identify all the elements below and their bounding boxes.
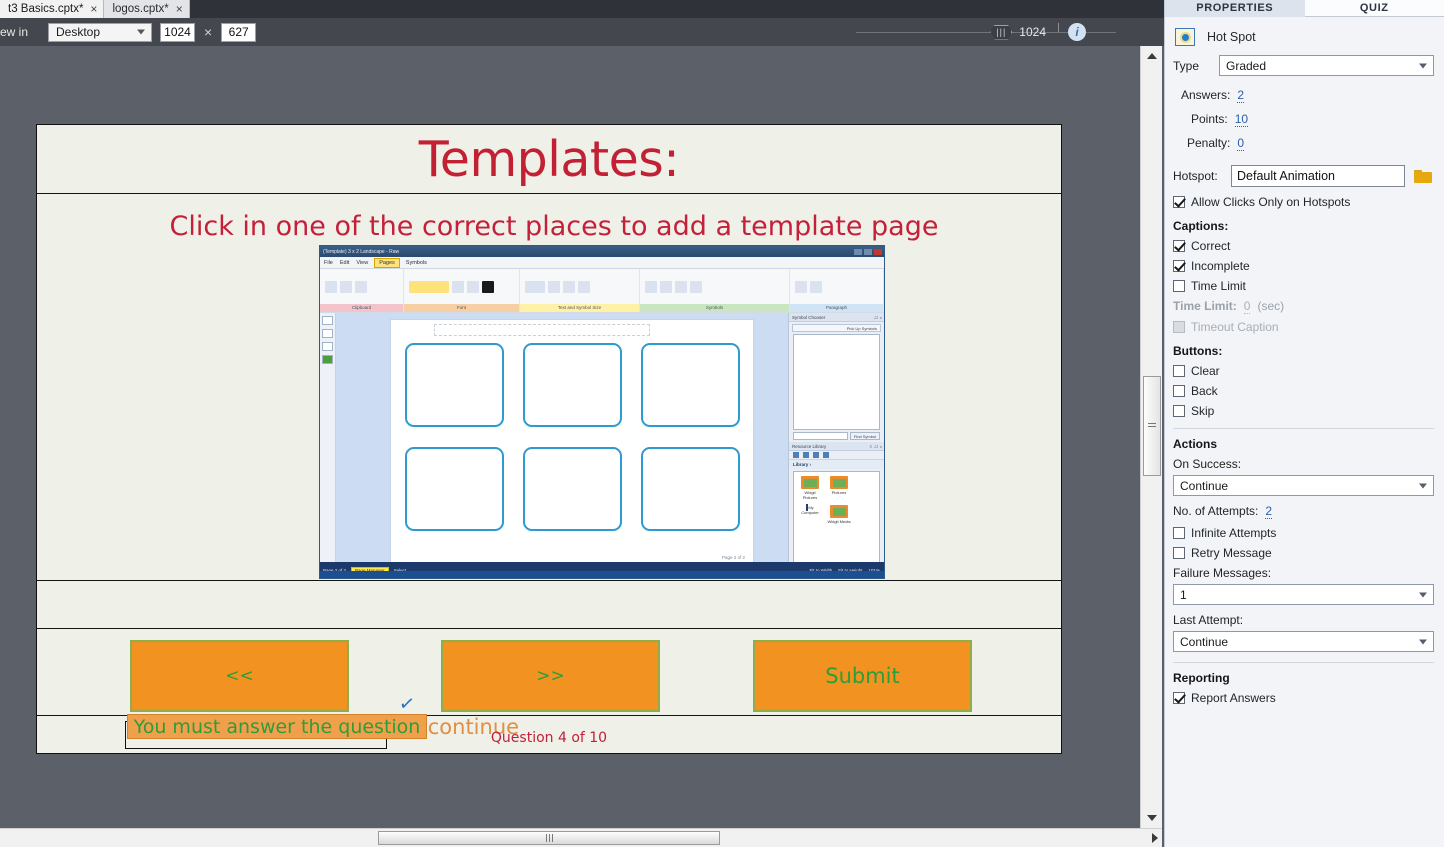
triangle-down-icon <box>1147 815 1157 821</box>
ribbon-group-clipboard: Clipboard <box>320 269 404 312</box>
close-icon: × <box>880 444 882 449</box>
colour-icon <box>482 281 494 293</box>
button-back-checkbox[interactable]: Back <box>1173 384 1434 398</box>
caption-incomplete-label: Incomplete <box>1191 259 1250 273</box>
page-header-placeholder <box>434 324 650 336</box>
library-item-label: Widgit Pictures <box>803 490 817 500</box>
shot-taskbar <box>320 571 884 578</box>
symbol-chooser-header: Symbol Chooser ☐ × <box>789 313 884 322</box>
page-footer-text: Page 2 of 2 <box>722 555 745 560</box>
find-symbol-row: Find Symbol <box>793 432 880 440</box>
slide-title: Templates: <box>37 131 1061 188</box>
hotspot-label: Hotspot: <box>1173 169 1231 183</box>
paste-icon <box>355 281 367 293</box>
chevron-down-icon <box>137 30 145 35</box>
next-button[interactable]: >> <box>441 640 660 712</box>
checkbox-box <box>1173 365 1185 377</box>
menu-icon: ≡ <box>870 444 872 449</box>
previous-button[interactable]: << <box>130 640 349 712</box>
time-limit-value: 0 <box>1244 299 1251 314</box>
app-window: t3 Basics.cptx* × logos.cptx* × ew in De… <box>0 0 1444 847</box>
checkbox-box <box>1173 527 1185 539</box>
caption-correct-label: Correct <box>1191 239 1230 253</box>
line-tool-icon <box>322 342 333 351</box>
width-value: 1024 <box>164 25 191 39</box>
close-icon: × <box>880 315 882 320</box>
panel-title: Resource Library <box>792 444 826 449</box>
library-item: Widgit Media <box>827 505 851 524</box>
library-item: My Computer <box>798 505 822 524</box>
ribbon-group-textsize: Text and Symbol Size <box>520 269 640 312</box>
symbol-extra-icon <box>690 281 702 293</box>
ribbon-group-paragraph: Paragraph <box>790 269 884 312</box>
timeout-caption-label: Timeout Caption <box>1191 320 1279 334</box>
on-success-label: On Success: <box>1173 457 1434 471</box>
panel-buttons: ☐ × <box>874 315 882 320</box>
section-divider <box>1173 428 1434 429</box>
report-answers-label: Report Answers <box>1191 691 1276 705</box>
maximize-icon <box>864 249 872 255</box>
up-icon <box>803 452 809 458</box>
checkbox-box <box>1173 196 1185 208</box>
object-header: Hot Spot <box>1175 28 1434 46</box>
tab-properties[interactable]: PROPERTIES <box>1165 0 1305 17</box>
shot-window-buttons <box>854 249 882 255</box>
find-symbol-button: Find Symbol <box>850 432 880 440</box>
folder-icon <box>830 476 848 489</box>
shot-menubar: File Edit View Pages Symbols <box>320 257 884 269</box>
allow-clicks-checkbox[interactable]: Allow Clicks Only on Hotspots <box>1173 195 1434 209</box>
bullets-icon <box>810 281 822 293</box>
zoom-controls: ||| 1024 i <box>990 18 1086 46</box>
shot-menu-symbols: Symbols <box>406 260 427 266</box>
ribbon-caption: Clipboard <box>320 304 403 312</box>
library-item-label: My Computer <box>801 505 819 515</box>
ribbon-group-font: Font <box>404 269 520 312</box>
slide-divider <box>37 580 1061 581</box>
caption-timelimit-label: Time Limit <box>1191 279 1246 293</box>
document-tab-basics[interactable]: t3 Basics.cptx* × <box>0 0 104 18</box>
embedded-screenshot-image[interactable]: (Template) 3 x 2 Landscape - Raw File Ed… <box>319 245 885 579</box>
horizontal-scrollbar[interactable] <box>0 828 1162 847</box>
infinite-attempts-checkbox[interactable]: Infinite Attempts <box>1173 526 1434 540</box>
hotspot-icon <box>1175 28 1195 46</box>
grip-icon <box>1148 423 1156 429</box>
answers-label: Answers: <box>1181 88 1230 102</box>
slide-divider <box>37 193 1061 194</box>
retry-message-label: Retry Message <box>1191 546 1272 560</box>
check-icon: ✓ <box>397 692 416 717</box>
type-row: Type Graded <box>1173 55 1434 76</box>
caption-timelimit-checkbox[interactable]: Time Limit <box>1173 279 1434 293</box>
properties-content: Hot Spot Type Graded Answers: 2 Points: … <box>1165 17 1444 705</box>
shot-right-panels: Symbol Chooser ☐ × Pick Up Symbols <box>788 313 884 562</box>
minimize-icon <box>854 249 862 255</box>
info-icon[interactable]: i <box>1068 23 1086 41</box>
failure-messages-select[interactable]: 1 <box>1173 584 1434 605</box>
indent-icon <box>563 281 575 293</box>
copy-icon <box>340 281 352 293</box>
frame-tool-icon <box>322 316 333 325</box>
tab-label: t3 Basics.cptx* <box>8 3 83 15</box>
question-counter: Question 4 of 10 <box>37 730 1061 746</box>
width-input[interactable]: 1024 <box>160 23 195 42</box>
checkbox-box <box>1173 547 1185 559</box>
close-icon <box>874 249 882 255</box>
ribbon-caption: Paragraph <box>790 304 883 312</box>
back-icon <box>813 452 819 458</box>
last-attempt-value: Continue <box>1180 635 1228 649</box>
penalty-row: Penalty: 0 <box>1187 136 1434 151</box>
checkbox-box <box>1173 240 1185 252</box>
resource-library-header: Resource Library ≡ ☐ × <box>789 442 884 451</box>
shot-menu-file: File <box>324 260 333 266</box>
chevron-down-icon <box>1419 592 1427 597</box>
table-tool-icon <box>322 329 333 338</box>
properties-panel: PROPERTIES QUIZ Hot Spot Type Graded Ans… <box>1164 0 1444 847</box>
preview-toolbar: ew in Desktop 1024 × 627 ||| 1024 i <box>0 18 1164 46</box>
chevron-down-icon <box>1419 483 1427 488</box>
penalty-value[interactable]: 0 <box>1237 136 1244 151</box>
template-cell <box>523 447 622 531</box>
button-back-label: Back <box>1191 384 1218 398</box>
checkbox-box <box>1173 280 1185 292</box>
ribbon-caption: Symbols <box>640 304 789 312</box>
slide-divider <box>37 628 1061 629</box>
button-clear-checkbox[interactable]: Clear <box>1173 364 1434 378</box>
answers-value[interactable]: 2 <box>1237 88 1244 103</box>
shot-menu-view: View <box>356 260 368 266</box>
attempts-value[interactable]: 2 <box>1265 504 1272 519</box>
grip-icon <box>546 834 553 842</box>
find-symbol-input <box>793 432 848 440</box>
retry-message-checkbox[interactable]: Retry Message <box>1173 546 1434 560</box>
close-icon[interactable]: × <box>176 3 183 15</box>
zoom-slider-handle[interactable]: ||| <box>990 25 1012 40</box>
points-label: Points: <box>1191 112 1228 126</box>
shot-menu-pages: Pages <box>375 259 399 267</box>
time-limit-unit: (sec) <box>1257 299 1284 313</box>
horizontal-scroll-thumb[interactable] <box>378 831 720 845</box>
answers-row: Answers: 2 <box>1181 88 1434 103</box>
hotspot-value: Default Animation <box>1237 169 1335 183</box>
folder-icon[interactable] <box>1414 168 1434 184</box>
stage-canvas[interactable]: Templates: Click in one of the correct p… <box>0 46 1140 828</box>
caption-incomplete-checkbox[interactable]: Incomplete <box>1173 259 1434 273</box>
forward-icon <box>823 452 829 458</box>
italic-icon <box>467 281 479 293</box>
document-tab-logos[interactable]: logos.cptx* × <box>104 0 189 18</box>
folder-icon <box>801 476 819 489</box>
hotspot-row: Hotspot: Default Animation <box>1173 165 1434 187</box>
vertical-scroll-thumb[interactable] <box>1143 376 1161 476</box>
section-divider <box>1173 662 1434 663</box>
bold-icon <box>452 281 464 293</box>
auto-size-icon <box>578 281 590 293</box>
library-item-label: Pictures <box>832 490 846 495</box>
shot-titlebar: (Template) 3 x 2 Landscape - Raw <box>320 246 884 257</box>
time-limit-row: Time Limit: 0 (sec) <box>1173 299 1434 314</box>
penalty-label: Penalty: <box>1187 136 1230 150</box>
button-skip-label: Skip <box>1191 404 1214 418</box>
on-success-value: Continue <box>1180 479 1228 493</box>
template-cell <box>523 343 622 427</box>
object-name: Hot Spot <box>1207 30 1256 44</box>
last-attempt-label: Last Attempt: <box>1173 613 1434 627</box>
height-value: 627 <box>229 25 249 39</box>
shot-window-title: (Template) 3 x 2 Landscape - Raw <box>323 249 399 255</box>
submit-button[interactable]: Submit <box>753 640 972 712</box>
last-attempt-select[interactable]: Continue <box>1173 631 1434 652</box>
shot-workspace: Page 2 of 2 Symbol Chooser ☐ × Pick Up S… <box>320 313 884 562</box>
captions-heading: Captions: <box>1173 219 1434 233</box>
on-success-select[interactable]: Continue <box>1173 475 1434 496</box>
slide[interactable]: Templates: Click in one of the correct p… <box>36 124 1062 754</box>
scroll-up-button[interactable] <box>1141 48 1163 64</box>
line-spacing-icon <box>548 281 560 293</box>
infinite-attempts-label: Infinite Attempts <box>1191 526 1276 540</box>
attempts-row: No. of Attempts: 2 <box>1173 504 1434 519</box>
float-icon: ☐ <box>874 444 878 449</box>
checkbox-box <box>1173 385 1185 397</box>
buttons-heading: Buttons: <box>1173 344 1434 358</box>
template-cell <box>641 447 740 531</box>
tab-quiz[interactable]: QUIZ <box>1305 0 1444 17</box>
dimension-separator: × <box>204 24 212 40</box>
font-name-field <box>409 281 449 293</box>
tab-label: logos.cptx* <box>112 3 168 15</box>
shot-ribbon: Clipboard Font <box>320 269 884 313</box>
library-item: Widgit Pictures <box>798 476 822 500</box>
library-item-label: Widgit Media <box>827 519 850 524</box>
triangle-up-icon <box>1147 53 1157 59</box>
ribbon-caption: Text and Symbol Size <box>520 304 639 312</box>
properties-tab-bar: PROPERTIES QUIZ <box>1165 0 1444 17</box>
size-field <box>525 281 545 293</box>
close-icon[interactable]: × <box>90 3 97 15</box>
height-input[interactable]: 627 <box>221 23 256 42</box>
cut-icon <box>325 281 337 293</box>
ribbon-group-symbols: Symbols <box>640 269 790 312</box>
panel-buttons: ≡ ☐ × <box>870 444 882 449</box>
button-skip-checkbox[interactable]: Skip <box>1173 404 1434 418</box>
device-select[interactable]: Desktop <box>48 23 152 42</box>
ribbon-caption: Font <box>404 304 519 312</box>
symbol-tool-icon <box>322 355 333 364</box>
shot-tool-strip <box>320 313 336 562</box>
library-breadcrumb: Library › <box>789 460 884 469</box>
folder-icon <box>830 505 848 518</box>
reporting-heading: Reporting <box>1173 671 1434 685</box>
device-select-value: Desktop <box>56 25 100 39</box>
checkbox-box <box>1173 260 1185 272</box>
home-icon <box>793 452 799 458</box>
scroll-right-button[interactable] <box>1152 833 1158 843</box>
points-row: Points: 10 <box>1191 112 1434 127</box>
shot-menu-edit: Edit <box>340 260 349 266</box>
zoom-value: 1024 <box>1019 25 1046 39</box>
preview-in-label: ew in <box>0 25 42 39</box>
qualifiers-icon <box>660 281 672 293</box>
attempts-label: No. of Attempts: <box>1173 504 1258 518</box>
allow-clicks-label: Allow Clicks Only on Hotspots <box>1191 195 1350 209</box>
checkbox-box <box>1173 405 1185 417</box>
library-item: Pictures <box>827 476 851 500</box>
timeout-caption-checkbox: Timeout Caption <box>1173 320 1434 334</box>
document-tab-bar: t3 Basics.cptx* × logos.cptx* × <box>0 0 1164 18</box>
report-answers-checkbox[interactable]: Report Answers <box>1173 691 1434 705</box>
template-cell <box>641 343 740 427</box>
caption-correct-checkbox[interactable]: Correct <box>1173 239 1434 253</box>
change-symbol-text-icon <box>645 281 657 293</box>
align-icon <box>795 281 807 293</box>
points-value[interactable]: 10 <box>1235 112 1248 127</box>
symbol-preview-box <box>793 334 880 430</box>
time-limit-label: Time Limit: <box>1173 299 1237 313</box>
scroll-down-button[interactable] <box>1141 810 1163 826</box>
library-toolbar <box>789 451 884 460</box>
pick-up-symbols-label: Pick Up Symbols <box>847 326 877 331</box>
chevron-down-icon <box>1419 639 1427 644</box>
grip-icon: ||| <box>996 27 1006 37</box>
vertical-scrollbar[interactable] <box>1140 46 1162 828</box>
actions-heading: Actions <box>1173 437 1434 451</box>
chevron-down-icon <box>1419 63 1427 68</box>
button-clear-label: Clear <box>1191 364 1220 378</box>
failure-messages-value: 1 <box>1180 588 1187 602</box>
show-in-colour-icon <box>675 281 687 293</box>
pick-up-symbols-button: Pick Up Symbols <box>792 324 881 332</box>
shot-document-page: Page 2 of 2 <box>390 319 754 564</box>
type-select-value: Graded <box>1226 59 1266 73</box>
template-cell <box>405 343 504 427</box>
failure-messages-label: Failure Messages: <box>1173 566 1434 580</box>
slide-question-text: Click in one of the correct places to ad… <box>89 211 1019 242</box>
template-cell <box>405 447 504 531</box>
checkbox-box <box>1173 692 1185 704</box>
type-select[interactable]: Graded <box>1219 55 1434 76</box>
panel-title: Symbol Chooser <box>792 315 825 320</box>
checkbox-box <box>1173 321 1185 333</box>
hotspot-input[interactable]: Default Animation <box>1231 165 1405 187</box>
float-icon: ☐ <box>874 315 878 320</box>
type-label: Type <box>1173 59 1219 73</box>
